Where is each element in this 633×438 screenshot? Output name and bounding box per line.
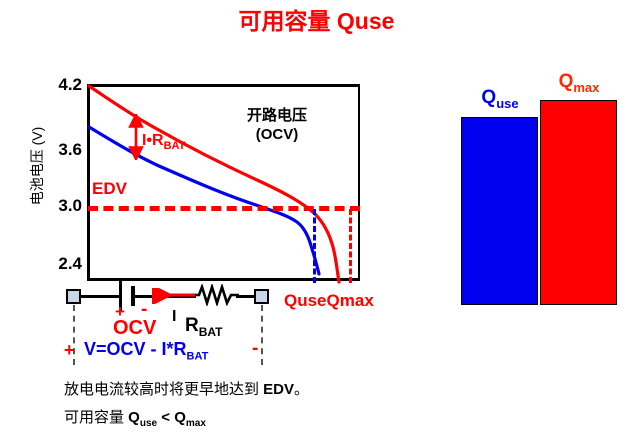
terminal-left xyxy=(66,289,81,304)
note-2-qmax-sub: max xyxy=(186,418,206,429)
load-curve xyxy=(89,127,319,274)
ocv-annotation: 开路电压 (OCV) xyxy=(222,106,332,144)
ir-drop-sub: BAT xyxy=(164,140,186,152)
quse-marker-line xyxy=(313,209,316,283)
bar-quse xyxy=(461,117,538,305)
terminal-right-guide xyxy=(261,305,263,365)
edv-label: EDV xyxy=(92,179,127,199)
note-1-edv: EDV xyxy=(263,381,294,398)
note-2-quse-sub: use xyxy=(140,418,157,429)
resistor-label-sub: BAT xyxy=(199,325,223,339)
note-2-qmax-main: Q xyxy=(174,409,186,426)
terminal-right xyxy=(254,289,269,304)
resistor-label-main: R xyxy=(185,315,199,336)
battery-equivalent-circuit: + - OCV I RBAT + V=OCV - I*RBAT - xyxy=(52,275,312,370)
bar-label-quse: Quse xyxy=(462,87,538,111)
y-tick-4-2: 4.2 xyxy=(36,75,82,95)
qmax-marker-line xyxy=(349,209,352,283)
wire-battery-gap xyxy=(135,295,150,298)
ocv-annotation-line2: (OCV) xyxy=(256,126,299,143)
terminal-voltage-minus: - xyxy=(252,338,258,360)
page-title: 可用容量 Quse xyxy=(0,2,633,36)
bar-label-qmax-main: Q xyxy=(559,71,574,92)
bar-label-quse-sub: use xyxy=(496,96,518,111)
current-arrow-icon xyxy=(152,288,198,304)
current-label: I xyxy=(172,308,176,326)
resistor-label: RBAT xyxy=(185,315,223,339)
note-2-quse-main: Q xyxy=(128,409,140,426)
terminal-voltage-equation: V=OCV - I*RBAT xyxy=(84,339,208,363)
ocv-source-label: OCV xyxy=(113,317,156,340)
bar-qmax xyxy=(540,100,617,305)
wire-left xyxy=(81,295,119,298)
ocv-annotation-line1: 开路电压 xyxy=(247,107,307,124)
bar-label-qmax: Qmax xyxy=(540,71,618,95)
terminal-voltage-equation-sub: BAT xyxy=(187,351,209,363)
voltage-capacity-chart: 4.2 3.6 3.0 2.4 电池电压 (V) EDV 开路电压 (OCV) … xyxy=(0,36,400,286)
bar-label-quse-main: Q xyxy=(481,87,496,108)
resistor-icon xyxy=(195,284,239,306)
note-line-2: 可用容量 Quse < Qmax xyxy=(64,406,206,429)
bar-label-qmax-sub: max xyxy=(573,80,599,95)
wire-right xyxy=(236,295,256,298)
note-2-operator: < xyxy=(157,409,174,426)
ir-drop-main: I•R xyxy=(142,132,164,149)
edv-dashed-line xyxy=(88,206,360,211)
y-tick-2-4: 2.4 xyxy=(36,254,82,274)
note-1-post: 。 xyxy=(294,381,309,398)
note-1-pre: 放电电流较高时将更早地达到 xyxy=(64,381,263,398)
note-line-1: 放电电流较高时将更早地达到 EDV。 xyxy=(64,378,309,399)
y-axis-label: 电池电压 (V) xyxy=(27,106,47,226)
ir-drop-label: I•RBAT xyxy=(142,132,185,152)
qmax-axis-label: Qmax xyxy=(327,291,374,310)
capacity-bar-chart: Quse Qmax xyxy=(440,40,633,320)
terminal-voltage-plus: + xyxy=(64,340,75,361)
note-2-pre: 可用容量 xyxy=(64,409,128,426)
terminal-voltage-equation-main: V=OCV - I*R xyxy=(84,339,187,359)
